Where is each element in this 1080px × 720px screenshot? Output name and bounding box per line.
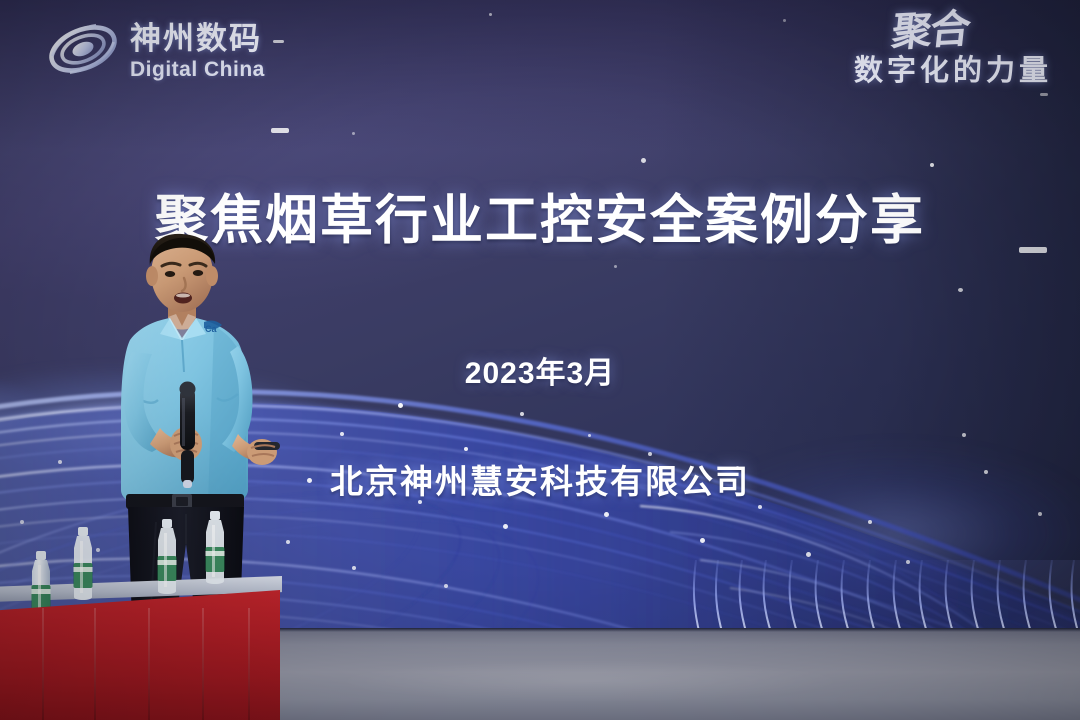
floor-reflection xyxy=(240,652,940,710)
event-calligraphy: 聚合 xyxy=(852,11,971,54)
table-cloth xyxy=(0,590,280,720)
digital-china-logo: 神州数码 Digital China xyxy=(46,18,265,85)
brand-name-en: Digital China xyxy=(130,59,265,80)
vertical-light-streaks xyxy=(690,560,1080,635)
water-bottle xyxy=(66,527,100,608)
front-row-table xyxy=(0,545,290,720)
microphone xyxy=(180,382,196,489)
event-branding: 聚合 数字化的力量 xyxy=(854,14,1052,89)
conference-stage-photo: 神州数码 Digital China 聚合 数字化的力量 聚焦烟草行业工控安全案… xyxy=(0,0,1080,720)
digital-china-spiral-icon xyxy=(46,18,120,85)
event-slogan: 数字化的力量 xyxy=(854,47,1052,89)
svg-text:Ca: Ca xyxy=(205,324,217,334)
water-bottle xyxy=(150,519,184,602)
brand-name-cn: 神州数码 xyxy=(130,23,265,54)
water-bottle xyxy=(199,511,231,592)
